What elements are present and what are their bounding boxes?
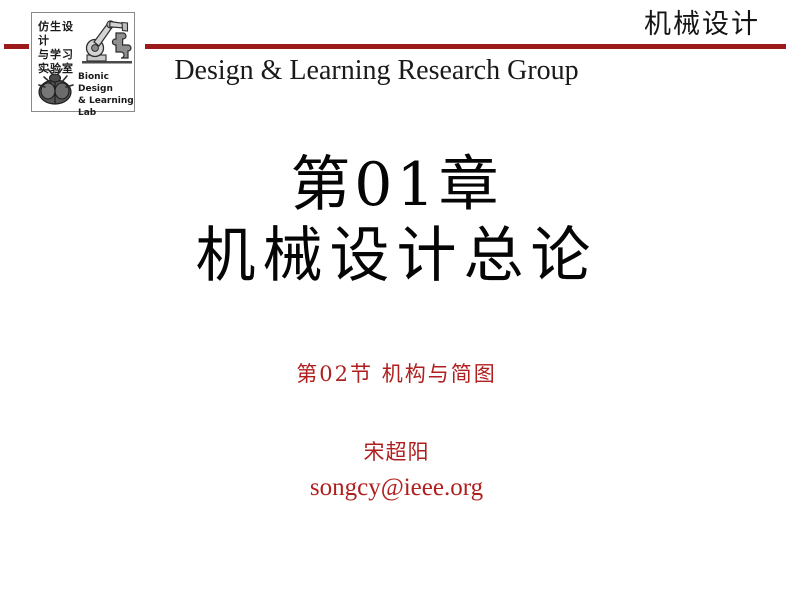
section-title: 第02节 机构与简图 [0, 360, 793, 388]
header-rule-main [145, 44, 786, 49]
course-title-cn: 机械设计 [644, 8, 760, 42]
research-group-subtitle: Design & Learning Research Group [0, 54, 753, 88]
slide-title-block: 第01章 机械设计总论 [0, 150, 793, 292]
presentation-slide: 仿生设计 与学习 实验室 [0, 0, 793, 595]
chapter-number: 第01章 [0, 150, 793, 220]
author-name: 宋超阳 [0, 438, 793, 466]
header-rule-left-dash [4, 44, 29, 49]
author-email: songcy@ieee.org [0, 472, 793, 504]
chapter-title: 机械设计总论 [0, 220, 793, 292]
